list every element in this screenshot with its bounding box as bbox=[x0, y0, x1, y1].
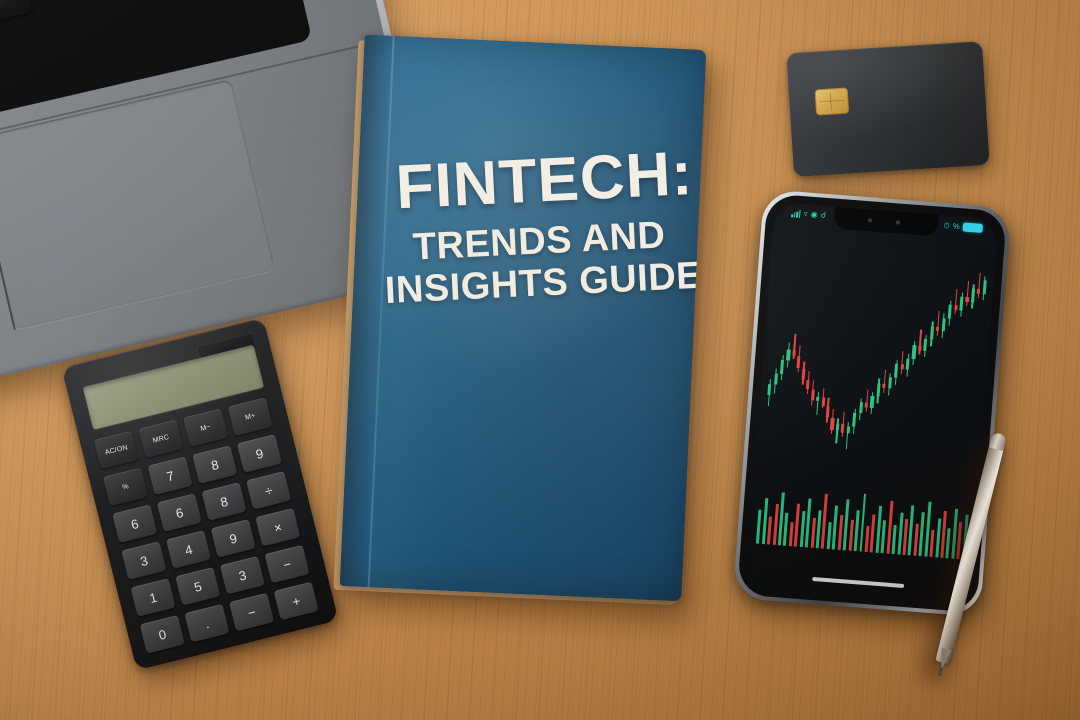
calculator-key-label: 0 bbox=[157, 627, 167, 641]
calculator-key-label: − bbox=[282, 557, 293, 571]
candle-body bbox=[918, 346, 921, 351]
candlestick-chart[interactable] bbox=[760, 246, 989, 488]
calculator-key[interactable]: + bbox=[274, 582, 319, 621]
calculator-key[interactable]: 4 bbox=[166, 530, 211, 569]
calculator-key-label: 3 bbox=[139, 553, 149, 567]
candle-body bbox=[859, 402, 863, 414]
calculator-key-label: M− bbox=[200, 423, 212, 432]
candle-wick bbox=[883, 370, 886, 393]
volume-bar bbox=[827, 522, 832, 549]
status-bar-right: ⏱ % bbox=[943, 221, 983, 233]
candle-body bbox=[941, 318, 945, 332]
volume-bar bbox=[756, 510, 762, 544]
signal-bars-icon bbox=[791, 209, 801, 218]
candle-wick bbox=[937, 311, 940, 336]
wifi-icon: ▿ bbox=[803, 210, 808, 218]
calculator-key-label: 6 bbox=[174, 505, 184, 519]
candle-body bbox=[797, 357, 801, 369]
candle-wick bbox=[919, 330, 922, 355]
candle-body bbox=[912, 345, 916, 359]
volume-bar bbox=[881, 520, 887, 553]
credit-card[interactable] bbox=[786, 41, 989, 177]
candle-body bbox=[930, 326, 934, 340]
calculator-key-label: 4 bbox=[183, 542, 193, 556]
candle-body bbox=[865, 403, 868, 408]
volume-bar bbox=[864, 526, 869, 552]
candle-body bbox=[786, 349, 790, 361]
laptop-key-glyph: ◀ command bbox=[0, 0, 13, 12]
calculator-key[interactable]: 9 bbox=[237, 434, 282, 473]
home-indicator[interactable] bbox=[812, 576, 904, 588]
calculator-key-label: MRC bbox=[152, 433, 170, 444]
candle-wick bbox=[955, 290, 958, 315]
candle-body bbox=[982, 280, 986, 294]
laptop-key[interactable]: ◀ command bbox=[0, 0, 33, 31]
candle-wick bbox=[901, 351, 904, 374]
calculator-key-label: × bbox=[273, 520, 284, 534]
candle-body bbox=[977, 289, 980, 294]
calculator-key[interactable]: 6 bbox=[157, 493, 202, 532]
candle-body bbox=[846, 426, 850, 433]
calculator-key[interactable]: 3 bbox=[220, 556, 265, 595]
calculator-key[interactable]: − bbox=[264, 545, 309, 584]
emv-chip-icon bbox=[815, 87, 850, 115]
clock-icon: ◉ bbox=[810, 211, 818, 220]
book-cover-gloss bbox=[340, 35, 614, 602]
calculator-key-label: + bbox=[291, 594, 302, 608]
candle-body bbox=[888, 377, 892, 389]
calculator-key-label: − bbox=[246, 605, 257, 619]
candle-wick bbox=[978, 273, 981, 298]
pen-cap bbox=[989, 432, 1007, 451]
candle-body bbox=[936, 327, 939, 332]
candle-body bbox=[906, 358, 910, 370]
calculator-key-label: 8 bbox=[210, 457, 220, 471]
calculator-key-label: M+ bbox=[244, 412, 256, 421]
volume-bar bbox=[810, 518, 815, 548]
laptop-trackpad[interactable] bbox=[0, 79, 275, 330]
calculator-key-label: . bbox=[204, 616, 211, 629]
calculator-key[interactable]: M− bbox=[183, 408, 228, 447]
candle-body bbox=[900, 365, 903, 370]
candle-body bbox=[830, 418, 834, 430]
candle-body bbox=[882, 384, 885, 389]
calculator-key[interactable]: M+ bbox=[228, 397, 273, 436]
bluetooth-icon: ☌ bbox=[820, 212, 826, 220]
calculator-key[interactable]: ÷ bbox=[246, 471, 291, 510]
percent-icon: % bbox=[952, 222, 960, 231]
calculator-key-label: ÷ bbox=[264, 483, 274, 497]
calculator-key-label: 9 bbox=[228, 531, 238, 545]
calculator-key[interactable]: 9 bbox=[211, 519, 256, 558]
calculator-key[interactable]: % bbox=[103, 468, 148, 507]
volume-bar bbox=[789, 522, 794, 547]
status-bar-left: ▿ ◉ ☌ bbox=[791, 209, 826, 220]
calculator-key-label: 9 bbox=[254, 446, 264, 460]
candle-wick bbox=[816, 392, 819, 415]
proximity-sensor-icon bbox=[896, 220, 900, 224]
calculator-key-label: 5 bbox=[193, 579, 203, 593]
volume-bar bbox=[930, 530, 935, 558]
calculator-key-label: 7 bbox=[165, 468, 175, 482]
calculator-key[interactable]: 6 bbox=[112, 504, 157, 543]
calculator-keypad[interactable]: AC/ONMRCM−M+%789668÷349×153−0.−+ bbox=[94, 397, 322, 656]
calculator-key-label: 3 bbox=[237, 568, 247, 582]
candle-body bbox=[954, 305, 957, 310]
candle-body bbox=[821, 397, 825, 406]
calculator-key-label: 6 bbox=[130, 516, 140, 530]
fintech-book[interactable]: FINTECH: TRENDS AND INSIGHTS GUIDE bbox=[340, 35, 707, 602]
book-cover: FINTECH: TRENDS AND INSIGHTS GUIDE bbox=[340, 35, 707, 602]
calculator-key-label: % bbox=[122, 483, 130, 491]
volume-bar bbox=[783, 513, 788, 546]
calculator-key[interactable]: MRC bbox=[138, 420, 183, 459]
calculator-key[interactable]: 8 bbox=[201, 482, 246, 521]
calculator-key[interactable]: 0 bbox=[140, 615, 185, 654]
candle-body bbox=[816, 397, 819, 402]
candle-body bbox=[836, 423, 840, 430]
volume-bar bbox=[854, 510, 860, 552]
book-title-block: FINTECH: TRENDS AND INSIGHTS GUIDE bbox=[395, 144, 702, 312]
candle-body bbox=[780, 360, 784, 374]
candle-body bbox=[870, 396, 874, 408]
calculator-key-label: 1 bbox=[148, 590, 158, 604]
calculator-key-label: 8 bbox=[219, 494, 229, 508]
alarm-icon: ⏱ bbox=[943, 221, 950, 229]
calculator-key[interactable]: 7 bbox=[148, 456, 193, 495]
desk-flatlay-scene: ]⁄|◁▷∿M♂!▲▶◀ command▪▼ AC/ONMRCM−M+%7896… bbox=[0, 0, 1080, 720]
candle-body bbox=[792, 349, 796, 356]
volume-bar bbox=[767, 516, 772, 544]
battery-icon bbox=[962, 222, 983, 233]
candle-body bbox=[965, 297, 968, 302]
candle-body bbox=[841, 423, 845, 432]
phone-notch bbox=[833, 207, 938, 237]
calculator-key[interactable]: 5 bbox=[175, 567, 220, 606]
candle-body bbox=[948, 305, 952, 319]
volume-chart[interactable] bbox=[755, 470, 972, 560]
candle-body bbox=[959, 297, 963, 311]
calculator-key[interactable]: × bbox=[255, 508, 300, 547]
book-title-main: FINTECH: bbox=[395, 144, 698, 219]
candle-body bbox=[894, 364, 898, 378]
front-camera-icon bbox=[868, 218, 872, 222]
volume-bar bbox=[892, 525, 897, 554]
calculator-key[interactable]: 3 bbox=[121, 541, 166, 580]
candle-wick bbox=[865, 389, 868, 412]
calculator-key[interactable]: − bbox=[229, 593, 274, 632]
calculator-key[interactable]: AC/ON bbox=[94, 431, 139, 470]
candle-body bbox=[806, 380, 810, 389]
calculator-key[interactable]: . bbox=[184, 604, 229, 643]
candle-body bbox=[767, 384, 771, 396]
candle-body bbox=[971, 288, 975, 302]
candle-body bbox=[876, 383, 880, 397]
calculator-key[interactable]: 1 bbox=[131, 578, 176, 617]
calculator-key[interactable]: 8 bbox=[192, 445, 237, 484]
candle-body bbox=[826, 406, 830, 418]
volume-bar bbox=[913, 524, 918, 556]
candle-body bbox=[811, 389, 815, 401]
card-body bbox=[786, 41, 989, 177]
candle-body bbox=[801, 368, 805, 380]
calculator-key-label: AC/ON bbox=[104, 444, 128, 456]
candle-body bbox=[852, 413, 856, 427]
candle-wick bbox=[966, 281, 969, 306]
volume-bar bbox=[848, 520, 853, 551]
candle-body bbox=[774, 373, 778, 385]
candle-body bbox=[924, 339, 928, 351]
